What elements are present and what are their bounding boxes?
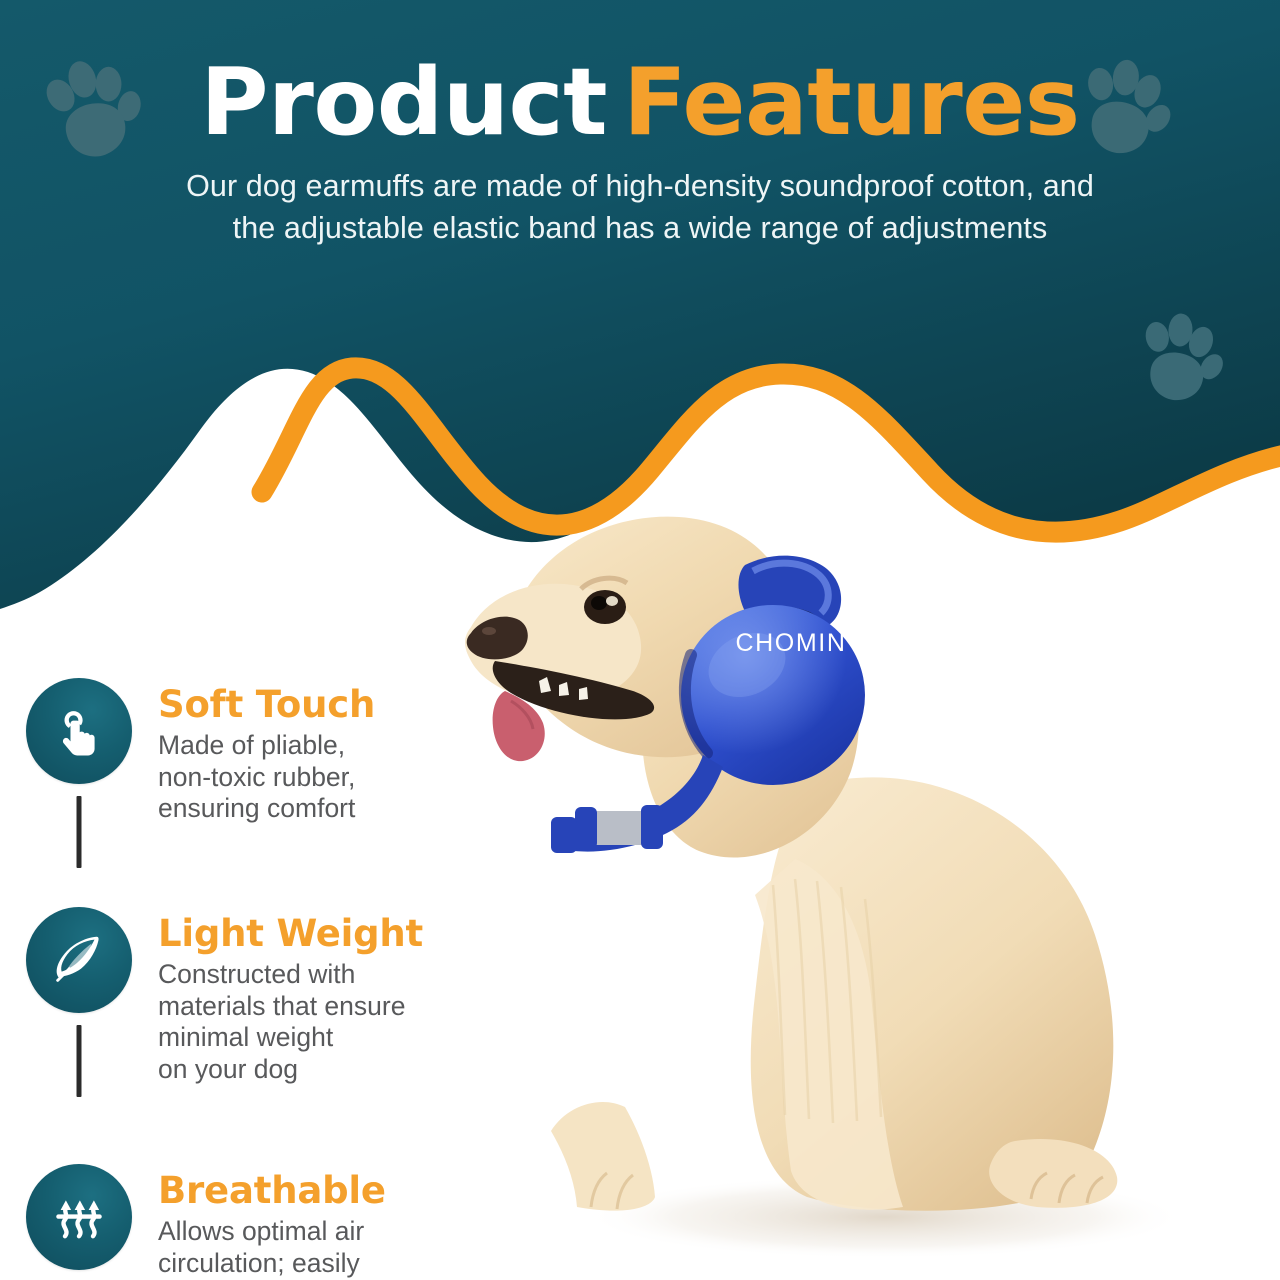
feature-description: Allows optimal air circulation; easily m… [158, 1216, 386, 1280]
feature-description: Constructed with materials that ensure m… [158, 959, 423, 1086]
description-line: circulation; easily [158, 1248, 386, 1280]
icon-column [0, 1164, 158, 1270]
description-line: materials that ensure [158, 991, 423, 1023]
connector-line [77, 1025, 82, 1097]
feature-text: Soft Touch Made of pliable, non-toxic ru… [158, 678, 375, 825]
description-line: Constructed with [158, 959, 423, 991]
description-line: ensuring comfort [158, 793, 375, 825]
icon-column [0, 678, 158, 784]
feature-list: Soft Touch Made of pliable, non-toxic ru… [0, 660, 520, 1280]
feature-description: Made of pliable, non-toxic rubber, ensur… [158, 730, 375, 825]
feature-item-breathable: Breathable Allows optimal air circulatio… [0, 1164, 520, 1280]
icon-column [0, 907, 158, 1013]
feature-item-soft-touch: Soft Touch Made of pliable, non-toxic ru… [0, 678, 520, 825]
connector-line [77, 796, 82, 868]
airflow-icon [26, 1164, 132, 1270]
description-line: Allows optimal air [158, 1216, 386, 1248]
paw-print-icon [1059, 49, 1184, 174]
front-leg [551, 1102, 655, 1211]
feature-heading: Soft Touch [158, 686, 375, 724]
paw-print-icon [1122, 306, 1235, 419]
feature-heading: Breathable [158, 1172, 386, 1210]
feature-text: Light Weight Constructed with materials … [158, 907, 423, 1086]
description-line: minimal weight [158, 1022, 423, 1054]
infographic-canvas: ProductFeatures Our dog earmuffs are mad… [0, 0, 1280, 1280]
description-line: non-toxic rubber, [158, 762, 375, 794]
feature-text: Breathable Allows optimal air circulatio… [158, 1164, 386, 1280]
description-line: Made of pliable, [158, 730, 375, 762]
feature-item-light-weight: Light Weight Constructed with materials … [0, 907, 520, 1086]
rear-paw [989, 1139, 1117, 1208]
product-photo: CHOMIN [455, 455, 1245, 1280]
pointing-hand-icon [26, 678, 132, 784]
brand-label: CHOMIN [736, 629, 847, 657]
feather-icon [26, 907, 132, 1013]
feature-heading: Light Weight [158, 915, 423, 953]
description-line: on your dog [158, 1054, 423, 1086]
paw-print-icon [26, 48, 159, 181]
